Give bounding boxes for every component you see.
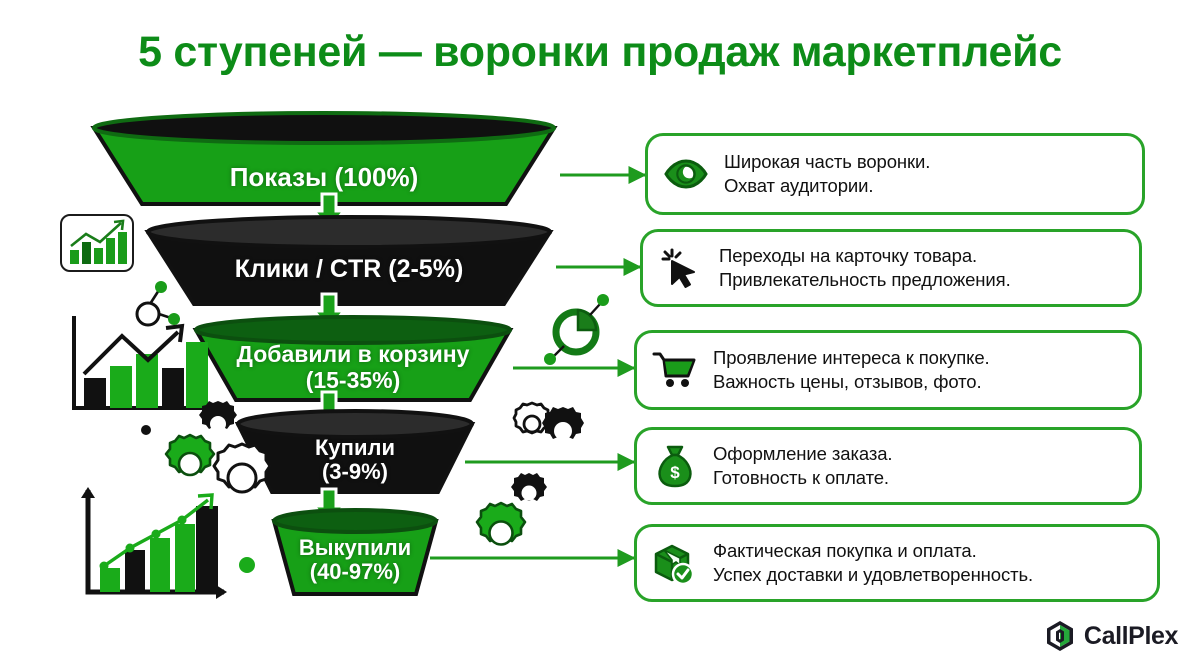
funnel-stage-redeemed[interactable]: Выкупили (40-97%) — [268, 508, 442, 600]
logo-text: CallPlex — [1084, 622, 1178, 651]
shopping-cart-icon — [651, 346, 699, 394]
pie-chart-icon — [538, 284, 622, 368]
info-box-text: Широкая часть воронки. Охват аудитории. — [724, 150, 930, 198]
svg-text:$: $ — [670, 463, 680, 482]
info-box-purchased[interactable]: $ Оформление заказа. Готовность к оплате… — [634, 427, 1142, 505]
bar-chart-card-icon — [60, 214, 134, 272]
info-box-text: Проявление интереса к покупке. Важность … — [713, 346, 990, 394]
eye-icon — [662, 150, 710, 198]
info-box-text: Фактическая покупка и оплата. Успех дост… — [713, 539, 1033, 587]
callplex-mark-icon — [1045, 620, 1075, 652]
package-check-icon — [651, 539, 699, 587]
info-box-text: Переходы на карточку товара. Привлекател… — [719, 244, 1011, 292]
cursor-click-icon — [657, 244, 705, 292]
info-box-text: Оформление заказа. Готовность к оплате. — [713, 442, 892, 490]
money-bag-icon: $ — [651, 442, 699, 490]
info-box-add-to-cart[interactable]: Проявление интереса к покупке. Важность … — [634, 330, 1142, 410]
brand-logo[interactable]: CallPlex — [1045, 620, 1178, 652]
gear-green-icon-right — [468, 500, 534, 566]
bar-chart-growth-icon — [66, 482, 232, 606]
dot-decoration-1 — [140, 424, 152, 436]
infographic-canvas: 5 ступеней — воронки продаж маркетплейс … — [0, 0, 1200, 670]
info-box-impressions[interactable]: Широкая часть воронки. Охват аудитории. — [645, 133, 1145, 215]
info-box-redeemed[interactable]: Фактическая покупка и оплата. Успех дост… — [634, 524, 1160, 602]
info-box-clicks[interactable]: Переходы на карточку товара. Привлекател… — [640, 229, 1142, 307]
funnel-stage-add-to-cart[interactable]: Добавили в корзину (15-35%) — [190, 316, 516, 410]
dot-decoration-2 — [238, 556, 256, 574]
gear-black-icon-right-top — [536, 404, 590, 458]
funnel-stage-clicks[interactable]: Клики / CTR (2-5%) — [142, 216, 556, 314]
